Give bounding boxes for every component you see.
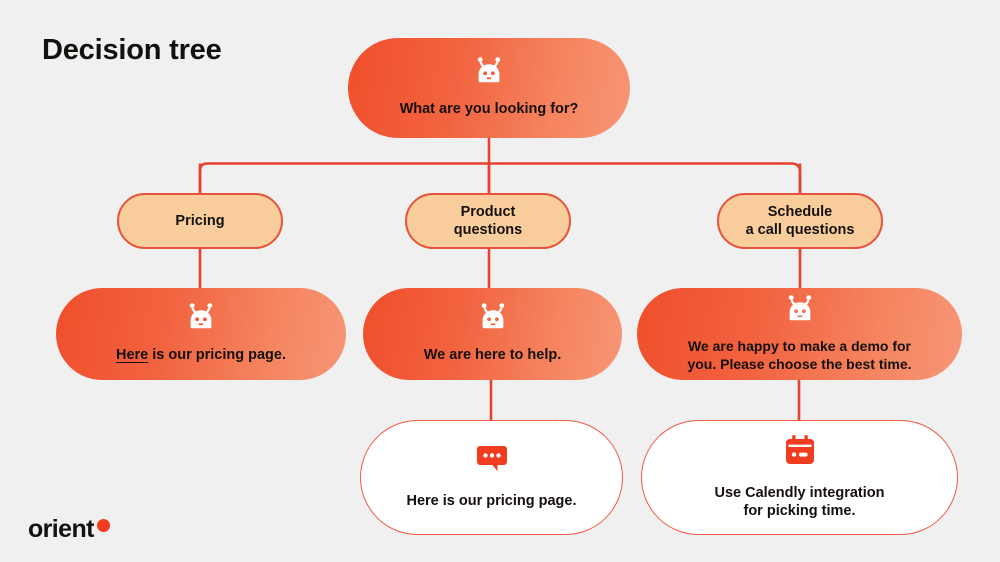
bot-icon (474, 57, 504, 88)
node-schedule-a-call-questions[interactable]: Schedule a call questions (717, 193, 883, 249)
node-schedule-answer[interactable]: We are happy to make a demo for you. Ple… (637, 288, 962, 380)
node-schedule-a-call-questions-label: Schedule a call questions (746, 203, 855, 239)
node-pricing[interactable]: Pricing (117, 193, 283, 249)
node-calendly-outcome[interactable]: Use Calendly integration for picking tim… (641, 420, 958, 535)
pricing-page-link[interactable]: Here (116, 347, 148, 363)
node-product-questions[interactable]: Product questions (405, 193, 571, 249)
bot-icon (186, 303, 216, 334)
node-schedule-line2: a call questions (746, 222, 855, 238)
calendar-icon (786, 435, 814, 470)
orient-logo: orient (28, 512, 110, 542)
node-pricing-outcome-label: Here is our pricing page. (406, 492, 576, 510)
decision-tree-canvas: Decision tree (0, 0, 1000, 562)
orient-logo-dot (97, 519, 110, 532)
node-product-questions-line1: Product (461, 204, 516, 220)
node-pricing-answer-text: is our pricing page. (148, 347, 286, 363)
node-product-questions-line2: questions (454, 222, 522, 238)
node-pricing-label: Pricing (175, 212, 224, 230)
node-pricing-outcome[interactable]: Here is our pricing page. (360, 420, 623, 535)
node-root[interactable]: What are you looking for? (348, 38, 630, 138)
node-calendly-outcome-line1: Use Calendly integration (714, 485, 884, 501)
node-schedule-line1: Schedule (768, 204, 832, 220)
node-schedule-answer-line1: We are happy to make a demo for (688, 338, 911, 354)
node-product-answer-label: We are here to help. (424, 346, 562, 364)
orient-logo-wordmark: orient (28, 517, 94, 542)
node-pricing-answer-label: Here is our pricing page. (116, 346, 286, 364)
connector-bus (200, 164, 800, 194)
bot-icon (785, 295, 815, 326)
node-product-answer[interactable]: We are here to help. (363, 288, 622, 380)
node-calendly-outcome-label: Use Calendly integration for picking tim… (714, 484, 884, 520)
node-pricing-answer[interactable]: Here is our pricing page. (56, 288, 346, 380)
node-schedule-answer-line2: you. Please choose the best time. (687, 356, 911, 372)
node-schedule-answer-label: We are happy to make a demo for you. Ple… (687, 338, 911, 373)
node-product-questions-label: Product questions (454, 203, 522, 239)
chat-bubble-icon (477, 445, 507, 478)
node-root-label: What are you looking for? (400, 100, 579, 118)
bot-icon (478, 303, 508, 334)
node-calendly-outcome-line2: for picking time. (743, 503, 855, 519)
